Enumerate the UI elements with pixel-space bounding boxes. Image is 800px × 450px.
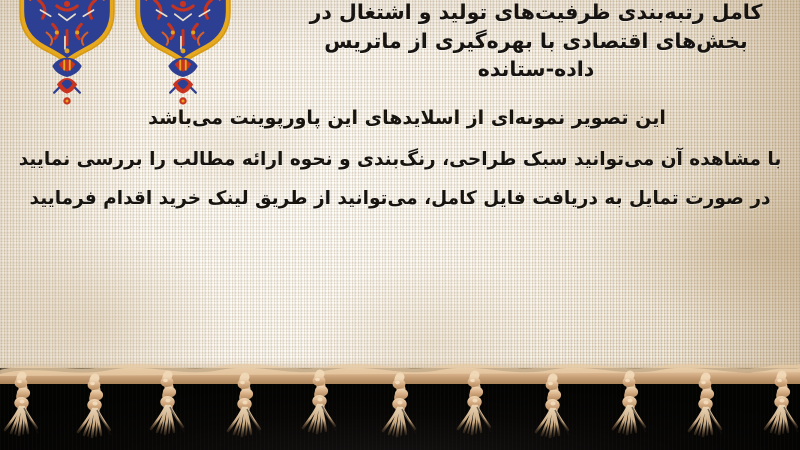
title-line-1: کامل رتبه‌بندی ظرفیت‌های تولید و اشتغال … [280, 0, 792, 27]
body-line-3: در صورت تمایل به دریافت فایل کامل، می‌تو… [0, 189, 800, 209]
title-line-2: بخش‌های اقتصادی با بهره‌گیری از ماتریس [280, 27, 792, 56]
body-line-2: با مشاهده آن می‌توانید سبک طراحی، رنگ‌بن… [0, 150, 800, 170]
carpet-medallion-ornament [0, 0, 250, 115]
slide-canvas: کامل رتبه‌بندی ظرفیت‌های تولید و اشتغال … [0, 0, 800, 450]
body-line-1: این تصویر نمونه‌ای از اسلایدهای این پاور… [0, 108, 800, 129]
slide-title: کامل رتبه‌بندی ظرفیت‌های تولید و اشتغال … [280, 0, 792, 84]
title-line-3: داده-ستانده [280, 55, 792, 84]
slide-body: این تصویر نمونه‌ای از اسلایدهای این پاور… [0, 108, 800, 209]
carpet-fringe [0, 350, 800, 450]
